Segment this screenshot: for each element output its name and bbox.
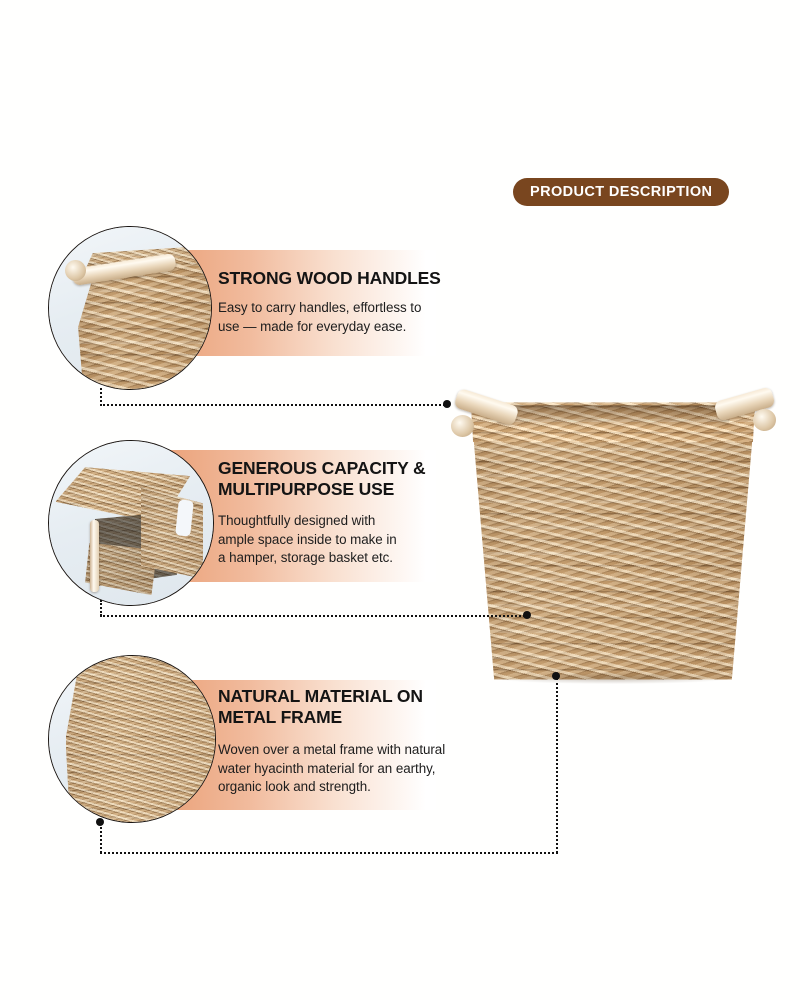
feature-body-2-line-1: Thoughtfully designed with	[218, 512, 486, 531]
product-description-infographic: PRODUCT DESCRIPTION STRONG WOOD HANDLES …	[0, 0, 800, 1000]
connector-3-riser	[556, 678, 558, 853]
connector-3-stub	[100, 822, 102, 853]
connector-1-endpoint-dot	[443, 400, 451, 408]
hero-basket-image	[448, 385, 778, 685]
connector-3-endpoint-dot	[552, 672, 560, 680]
feature-body-2-line-2: ample space inside to make in	[218, 531, 486, 550]
basket-base-shadow	[494, 672, 732, 684]
feature-body-2-line-3: a hamper, storage basket etc.	[218, 549, 486, 568]
feature-title-1: STRONG WOOD HANDLES	[218, 268, 486, 289]
feature-title-3-line-2: METAL FRAME	[218, 707, 486, 728]
feature-text-2: GENEROUS CAPACITY & MULTIPURPOSE USE Tho…	[218, 458, 486, 568]
feature-body-1-line-2: use — made for everyday ease.	[218, 318, 486, 337]
feature-title-2-line-1: GENEROUS CAPACITY &	[218, 458, 486, 479]
weave-macro-texture	[66, 655, 216, 823]
wood-handle-icon	[90, 520, 99, 592]
feature-title-2-line-2: MULTIPURPOSE USE	[218, 479, 486, 500]
connector-2-endpoint-dot	[523, 611, 531, 619]
feature-body-3: Woven over a metal frame with natural wa…	[218, 741, 486, 797]
connector-3-line	[100, 852, 558, 854]
feature-thumbnail-3	[48, 655, 216, 823]
feature-text-1: STRONG WOOD HANDLES Easy to carry handle…	[218, 268, 486, 336]
connector-2-stub	[100, 600, 102, 616]
feature-thumbnail-2	[48, 440, 214, 606]
feature-body-1-line-1: Easy to carry handles, effortless to	[218, 299, 486, 318]
wood-handle-left-cap	[451, 415, 474, 437]
connector-2-line	[100, 615, 528, 617]
feature-body-3-line-3: organic look and strength.	[218, 778, 486, 797]
feature-thumbnail-1	[48, 226, 212, 390]
feature-body-3-line-2: water hyacinth material for an earthy,	[218, 760, 486, 779]
feature-body-3-line-1: Woven over a metal frame with natural	[218, 741, 486, 760]
feature-text-3: NATURAL MATERIAL ON METAL FRAME Woven ov…	[218, 686, 486, 797]
product-description-badge: PRODUCT DESCRIPTION	[513, 178, 729, 206]
basket-interior-shadow	[488, 405, 739, 426]
feature-body-2: Thoughtfully designed with ample space i…	[218, 512, 486, 568]
basket-body	[448, 409, 778, 685]
connector-1-line	[100, 404, 448, 406]
feature-title-3: NATURAL MATERIAL ON METAL FRAME	[218, 686, 486, 728]
feature-title-3-line-1: NATURAL MATERIAL ON	[218, 686, 486, 707]
feature-title-2: GENEROUS CAPACITY & MULTIPURPOSE USE	[218, 458, 486, 500]
feature-body-1: Easy to carry handles, effortless to use…	[218, 299, 486, 336]
wood-handle-right-cap	[753, 409, 776, 431]
